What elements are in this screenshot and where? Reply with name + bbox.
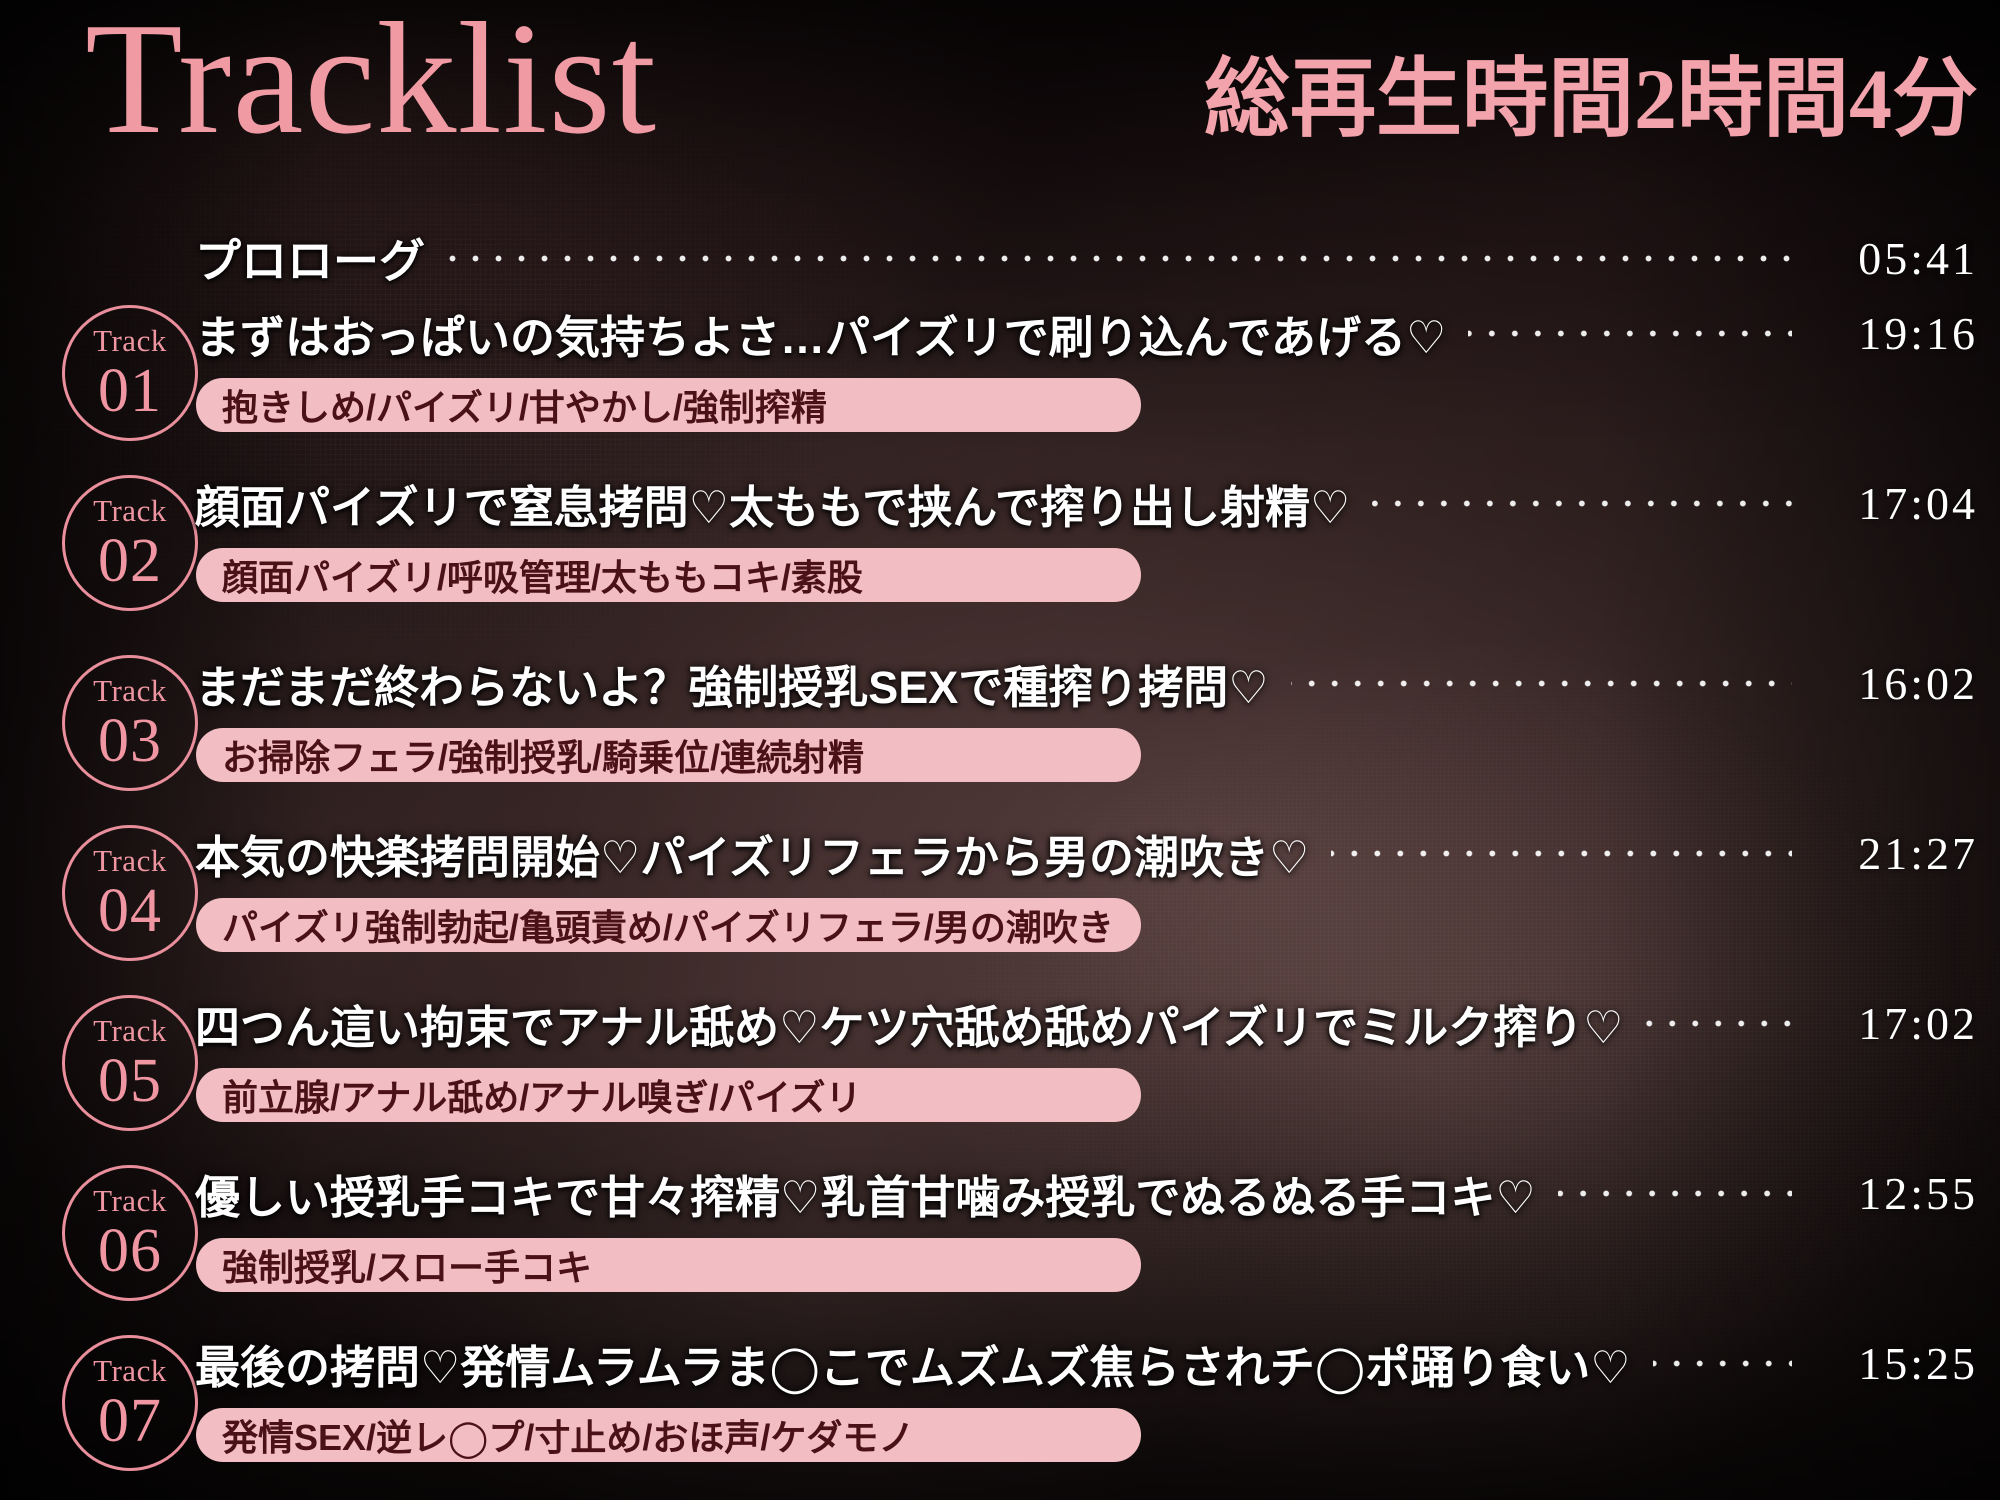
total-playtime-label: 総再生時間2時間4分: [1204, 56, 1978, 142]
prologue-title: プロローグ: [195, 225, 425, 291]
track-badge-number: 04: [98, 880, 162, 942]
track-row[interactable]: Track02顔面パイズリで窒息拷問♡太ももで挟んで搾り出し射精♡17:04顔面…: [0, 470, 2000, 630]
track-badge-word: Track: [93, 1355, 167, 1386]
track-heading: 顔面パイズリで窒息拷問♡太ももで挟んで搾り出し射精♡17:04: [195, 472, 1978, 534]
track-badge-number: 01: [98, 360, 162, 422]
track-tags: パイズリ強制勃起/亀頭責め/パイズリフェラ/男の潮吹き: [222, 899, 1114, 951]
track-tag-pill: 顔面パイズリ/呼吸管理/太ももコキ/素股: [196, 548, 1141, 602]
track-badge-number: 06: [98, 1220, 162, 1282]
track-badge-number: 02: [98, 530, 162, 592]
track-row[interactable]: Track05四つん這い拘束でアナル舐め♡ケツ穴舐め舐めパイズリでミルク搾り♡1…: [0, 990, 2000, 1150]
track-badge-word: Track: [93, 845, 167, 876]
dot-leader: [1558, 1173, 1792, 1213]
dot-leader: [1331, 833, 1792, 873]
track-tags: 発情SEX/逆レ◯プ/寸止め/おほ声/ケダモノ: [222, 1409, 914, 1461]
track-tags: 顔面パイズリ/呼吸管理/太ももコキ/素股: [222, 549, 863, 601]
track-badge-word: Track: [93, 495, 167, 526]
track-row[interactable]: Track01まずはおっぱいの気持ちよさ…パイズリで刷り込んであげる♡19:16…: [0, 300, 2000, 460]
track-badge-word: Track: [93, 325, 167, 356]
track-row[interactable]: Track04本気の快楽拷問開始♡パイズリフェラから男の潮吹き♡21:27パイズ…: [0, 820, 2000, 980]
track-duration: 19:16: [1810, 307, 1978, 360]
track-heading: 本気の快楽拷問開始♡パイズリフェラから男の潮吹き♡21:27: [195, 822, 1978, 884]
track-row[interactable]: Track03まだまだ終わらないよ？強制授乳SEXで種搾り拷問♡16:02お掃除…: [0, 650, 2000, 810]
track-duration: 17:04: [1810, 477, 1978, 530]
track-badge: Track06: [62, 1165, 198, 1301]
track-tag-pill: 抱きしめ/パイズリ/甘やかし/強制搾精: [196, 378, 1141, 432]
track-tag-pill: お掃除フェラ/強制授乳/騎乗位/連続射精: [196, 728, 1141, 782]
track-tag-pill: パイズリ強制勃起/亀頭責め/パイズリフェラ/男の潮吹き: [196, 898, 1141, 952]
track-duration: 15:25: [1810, 1337, 1978, 1390]
page-header: Tracklist 総再生時間2時間4分: [0, 0, 2000, 200]
track-heading: 優しい授乳手コキで甘々搾精♡乳首甘噛み授乳でぬるぬる手コキ♡12:55: [195, 1162, 1978, 1224]
track-badge: Track02: [62, 475, 198, 611]
dot-leader: [1653, 1343, 1792, 1383]
track-title: まだまだ終わらないよ？強制授乳SEXで種搾り拷問♡: [195, 651, 1269, 716]
track-badge: Track01: [62, 305, 198, 441]
track-tag-pill: 前立腺/アナル舐め/アナル嗅ぎ/パイズリ: [196, 1068, 1141, 1122]
track-badge: Track03: [62, 655, 198, 791]
track-badge-word: Track: [93, 1185, 167, 1216]
track-duration: 12:55: [1810, 1167, 1978, 1220]
tracklist-page: Tracklist 総再生時間2時間4分 プロローグ 05:41 Track01…: [0, 0, 2000, 1500]
track-badge-word: Track: [93, 675, 167, 706]
track-badge-word: Track: [93, 1015, 167, 1046]
track-heading: 最後の拷問♡発情ムラムラま◯こでムズムズ焦らされチ◯ポ踊り食い♡15:25: [195, 1332, 1978, 1394]
track-tags: 抱きしめ/パイズリ/甘やかし/強制搾精: [222, 379, 827, 431]
track-title: 本気の快楽拷問開始♡パイズリフェラから男の潮吹き♡: [195, 821, 1309, 886]
dot-leader: [1291, 663, 1792, 703]
prologue-row[interactable]: プロローグ 05:41: [195, 228, 1978, 288]
prologue-duration: 05:41: [1810, 232, 1978, 285]
track-badge: Track04: [62, 825, 198, 961]
track-tag-pill: 発情SEX/逆レ◯プ/寸止め/おほ声/ケダモノ: [196, 1408, 1141, 1462]
track-tags: お掃除フェラ/強制授乳/騎乗位/連続射精: [222, 729, 864, 781]
track-tags: 前立腺/アナル舐め/アナル嗅ぎ/パイズリ: [222, 1069, 862, 1121]
dot-leader: [1372, 483, 1792, 523]
track-row[interactable]: Track06優しい授乳手コキで甘々搾精♡乳首甘噛み授乳でぬるぬる手コキ♡12:…: [0, 1160, 2000, 1320]
track-tag-pill: 強制授乳/スロー手コキ: [196, 1238, 1141, 1292]
dot-leader: [447, 238, 1792, 278]
track-title: 顔面パイズリで窒息拷問♡太ももで挟んで搾り出し射精♡: [195, 471, 1350, 536]
track-badge: Track05: [62, 995, 198, 1131]
track-heading: 四つん這い拘束でアナル舐め♡ケツ穴舐め舐めパイズリでミルク搾り♡17:02: [195, 992, 1978, 1054]
track-badge: Track07: [62, 1335, 198, 1471]
track-heading: まだまだ終わらないよ？強制授乳SEXで種搾り拷問♡16:02: [195, 652, 1978, 714]
track-duration: 16:02: [1810, 657, 1978, 710]
dot-leader: [1645, 1003, 1792, 1043]
track-heading: まずはおっぱいの気持ちよさ…パイズリで刷り込んであげる♡19:16: [195, 302, 1978, 364]
track-title: 四つん這い拘束でアナル舐め♡ケツ穴舐め舐めパイズリでミルク搾り♡: [195, 991, 1623, 1056]
track-badge-number: 05: [98, 1050, 162, 1112]
track-badge-number: 03: [98, 710, 162, 772]
track-duration: 17:02: [1810, 997, 1978, 1050]
page-title: Tracklist: [85, 0, 657, 158]
track-title: 優しい授乳手コキで甘々搾精♡乳首甘噛み授乳でぬるぬる手コキ♡: [195, 1161, 1536, 1226]
track-title: まずはおっぱいの気持ちよさ…パイズリで刷り込んであげる♡: [195, 301, 1446, 366]
track-row[interactable]: Track07最後の拷問♡発情ムラムラま◯こでムズムズ焦らされチ◯ポ踊り食い♡1…: [0, 1330, 2000, 1490]
track-badge-number: 07: [98, 1390, 162, 1452]
track-tags: 強制授乳/スロー手コキ: [222, 1239, 592, 1291]
track-title: 最後の拷問♡発情ムラムラま◯こでムズムズ焦らされチ◯ポ踊り食い♡: [195, 1331, 1631, 1396]
track-duration: 21:27: [1810, 827, 1978, 880]
dot-leader: [1468, 313, 1792, 353]
